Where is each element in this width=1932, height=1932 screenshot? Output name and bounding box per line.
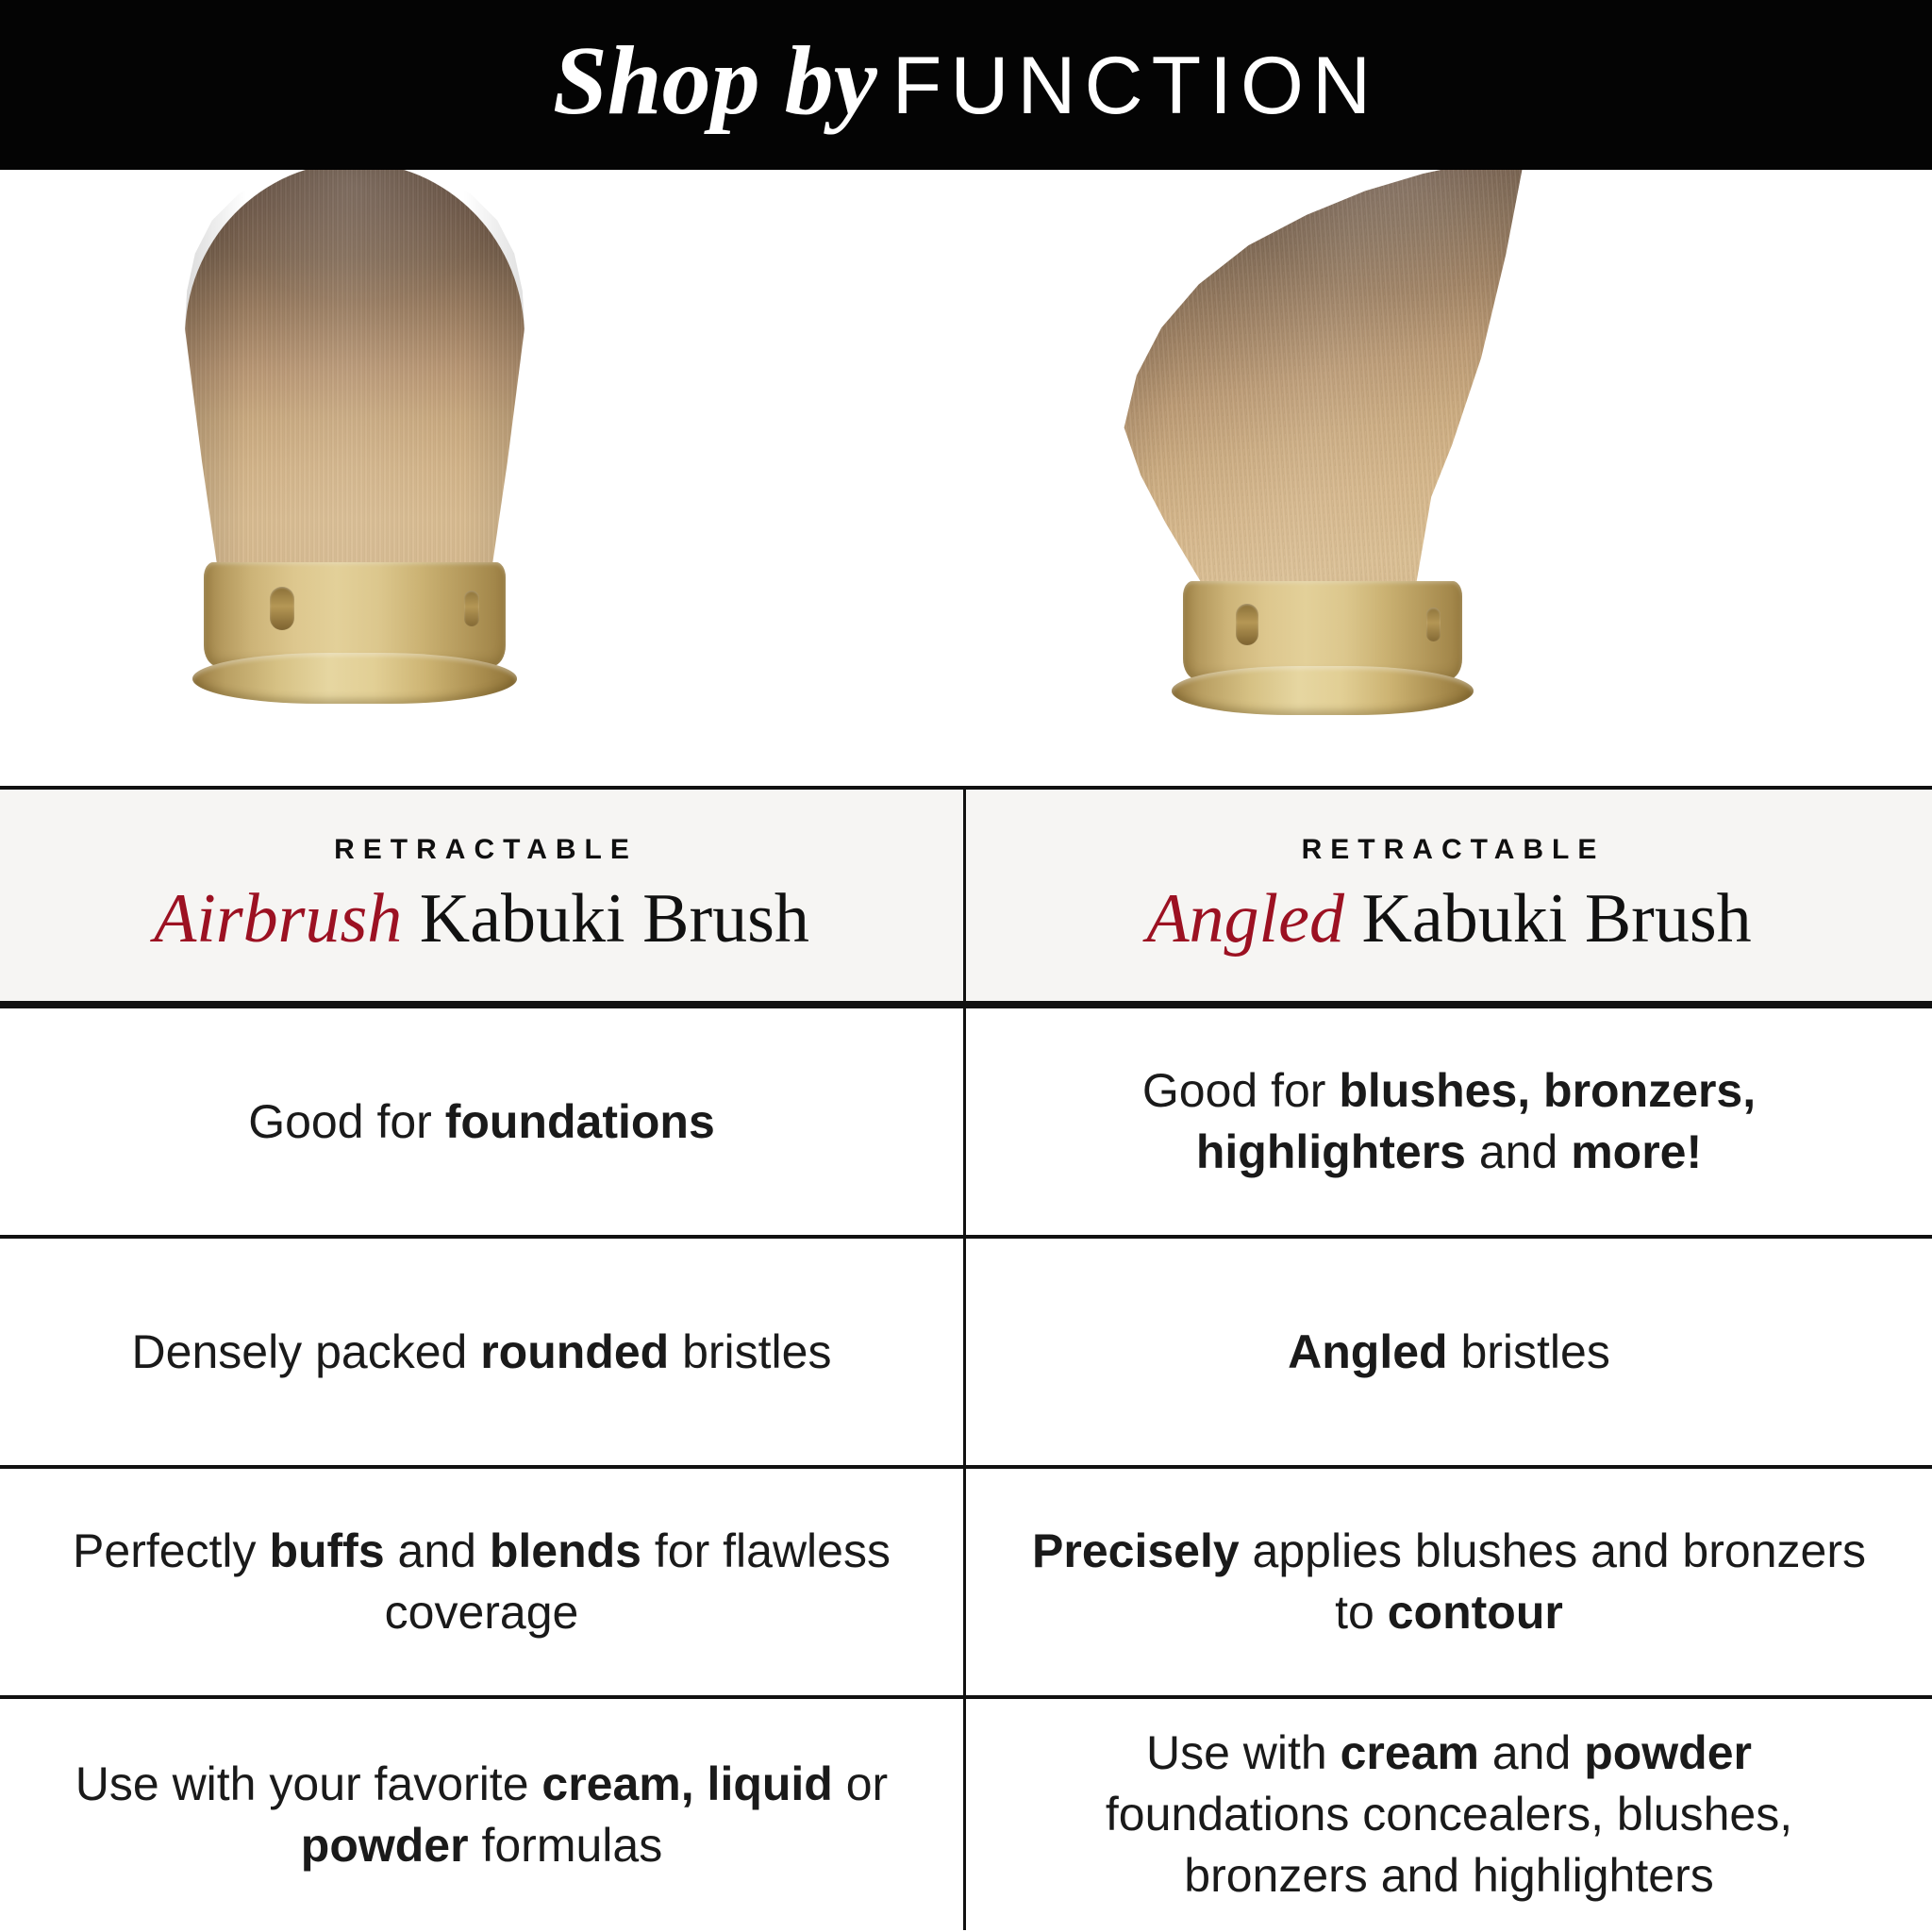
brush-ferrule (1183, 581, 1462, 679)
feature-plain: Densely packed (132, 1325, 481, 1378)
page-title-caps: FUNCTION (892, 41, 1379, 131)
feature-text: Good for foundations (248, 1091, 715, 1153)
product-name: Angled Kabuki Brush (1146, 883, 1751, 957)
product-image-strip (0, 170, 1932, 786)
feature-plain: Good for (1142, 1064, 1339, 1117)
ferrule-slot-icon (1236, 604, 1258, 645)
table-row: Use with your favorite cream, liquid or … (0, 1695, 1932, 1930)
feature-emphasis: buffs (269, 1524, 384, 1577)
product-name-rest: Kabuki Brush (420, 880, 809, 958)
feature-plain: or (833, 1757, 888, 1810)
feature-cell-left: Perfectly buffs and blends for flawless … (0, 1469, 966, 1695)
table-row-product-titles: RETRACTABLE Airbrush Kabuki Brush RETRAC… (0, 786, 1932, 1005)
angled-kabuki-brush-graphic (1108, 170, 1523, 658)
product-name-accent: Airbrush (154, 880, 402, 958)
brush-collar (192, 653, 517, 704)
feature-emphasis: cream, (541, 1757, 693, 1810)
shop-by-function-comparison-page: Shop byFUNCTION (0, 0, 1932, 1932)
brush-collar (1172, 666, 1474, 715)
header-banner: Shop byFUNCTION (0, 0, 1932, 170)
feature-plain: and (385, 1524, 490, 1577)
feature-cell-right: Angled bristles (966, 1239, 1932, 1465)
brush-ferrule (204, 562, 506, 666)
feature-rows-container: Good for foundationsGood for blushes, br… (0, 1005, 1932, 1930)
table-row: Densely packed rounded bristlesAngled br… (0, 1235, 1932, 1465)
feature-plain: Use with your favorite (75, 1757, 542, 1810)
feature-text: Good for blushes, bronzers, highlighters… (1024, 1060, 1874, 1183)
product-name-rest: Kabuki Brush (1361, 880, 1751, 958)
feature-plain: bristles (669, 1325, 831, 1378)
feature-text: Densely packed rounded bristles (132, 1322, 832, 1383)
feature-emphasis: more! (1571, 1125, 1702, 1178)
feature-emphasis: powder (301, 1819, 469, 1872)
feature-plain: and (1466, 1125, 1571, 1178)
feature-cell-left: Densely packed rounded bristles (0, 1239, 966, 1465)
feature-emphasis: rounded (480, 1325, 669, 1378)
feature-plain (694, 1757, 708, 1810)
product-eyebrow: RETRACTABLE (325, 834, 638, 866)
feature-cell-right: Use with cream and powder foundations co… (966, 1699, 1932, 1930)
feature-emphasis: liquid (708, 1757, 833, 1810)
table-row: Perfectly buffs and blends for flawless … (0, 1465, 1932, 1695)
feature-cell-right: Good for blushes, bronzers, highlighters… (966, 1008, 1932, 1235)
feature-plain: bristles (1448, 1325, 1610, 1378)
feature-emphasis: foundations (445, 1095, 715, 1148)
product-name-accent: Angled (1146, 880, 1344, 958)
feature-text: Use with cream and powder foundations co… (1024, 1723, 1874, 1907)
product-eyebrow: RETRACTABLE (1293, 834, 1606, 866)
feature-emphasis: cream (1341, 1726, 1479, 1779)
brush-bristles (185, 170, 525, 577)
ferrule-slot-icon (270, 587, 294, 630)
product-image-angled[interactable] (966, 170, 1932, 786)
feature-emphasis: contour (1388, 1586, 1563, 1639)
product-title-cell-airbrush[interactable]: RETRACTABLE Airbrush Kabuki Brush (0, 790, 966, 1001)
product-title-cell-angled[interactable]: RETRACTABLE Angled Kabuki Brush (966, 790, 1932, 1001)
feature-emphasis: Angled (1288, 1325, 1447, 1378)
feature-plain: Perfectly (73, 1524, 269, 1577)
brush-bristles (1108, 170, 1523, 592)
ferrule-slot-right-icon (464, 591, 479, 626)
airbrush-kabuki-brush-graphic (185, 170, 525, 653)
page-title: Shop byFUNCTION (553, 32, 1379, 130)
feature-text: Precisely applies blushes and bronzers t… (1024, 1521, 1874, 1643)
feature-text: Perfectly buffs and blends for flawless … (58, 1521, 907, 1643)
feature-emphasis: powder (1584, 1726, 1752, 1779)
product-comparison-table: RETRACTABLE Airbrush Kabuki Brush RETRAC… (0, 786, 1932, 1932)
product-name: Airbrush Kabuki Brush (154, 883, 809, 957)
feature-text: Angled bristles (1288, 1322, 1610, 1383)
feature-emphasis: Precisely (1032, 1524, 1240, 1577)
feature-plain: formulas (469, 1819, 663, 1872)
page-title-script: Shop by (553, 26, 892, 135)
ferrule-slot-right-icon (1426, 608, 1441, 641)
feature-text: Use with your favorite cream, liquid or … (58, 1754, 907, 1876)
feature-cell-left: Good for foundations (0, 1008, 966, 1235)
feature-plain: Use with (1146, 1726, 1341, 1779)
feature-plain: Good for (248, 1095, 444, 1148)
table-row: Good for foundationsGood for blushes, br… (0, 1005, 1932, 1235)
product-image-airbrush[interactable] (0, 170, 966, 786)
feature-cell-left: Use with your favorite cream, liquid or … (0, 1699, 966, 1930)
feature-plain: and (1479, 1726, 1584, 1779)
feature-plain: foundations concealers, blushes, bronzer… (1106, 1788, 1792, 1902)
feature-cell-right: Precisely applies blushes and bronzers t… (966, 1469, 1932, 1695)
feature-emphasis: blends (490, 1524, 641, 1577)
